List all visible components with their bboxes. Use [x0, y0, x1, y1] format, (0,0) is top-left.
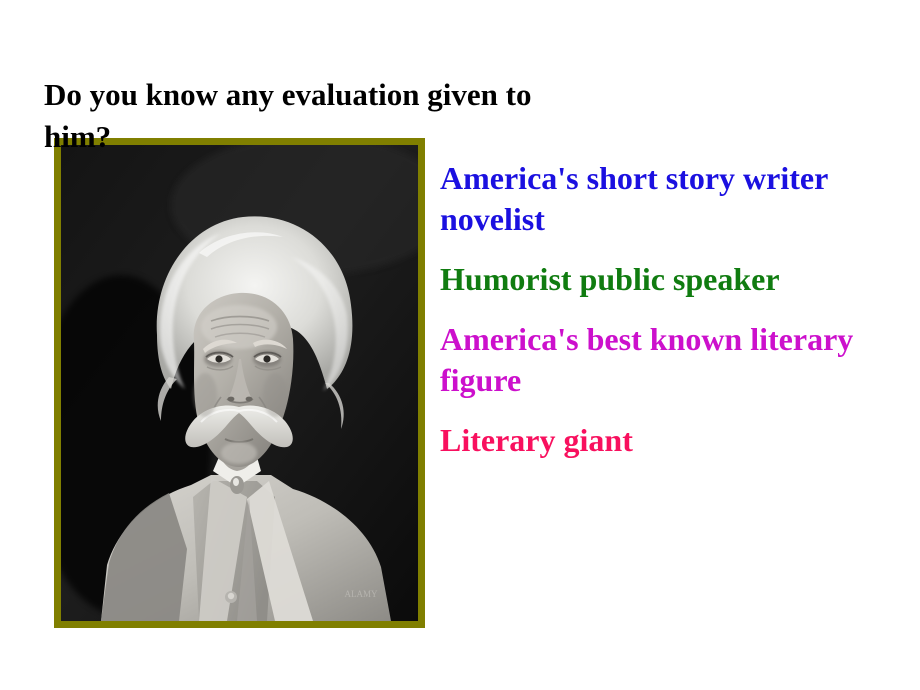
list-item: Humorist public speaker: [440, 259, 892, 300]
slide-canvas: Do you know any evaluation given to him?: [0, 0, 920, 690]
list-item: America's best known literary figure: [440, 319, 892, 401]
svg-text:ALAMY: ALAMY: [345, 589, 378, 599]
list-item: Literary giant: [440, 420, 892, 461]
list-item: America's short story writer novelist: [440, 158, 892, 240]
page-title: Do you know any evaluation given to him?: [44, 74, 564, 158]
mark-twain-portrait-image: ALAMY: [61, 145, 418, 621]
portrait-frame: ALAMY: [54, 138, 425, 628]
evaluation-list: America's short story writer novelist Hu…: [440, 158, 892, 461]
